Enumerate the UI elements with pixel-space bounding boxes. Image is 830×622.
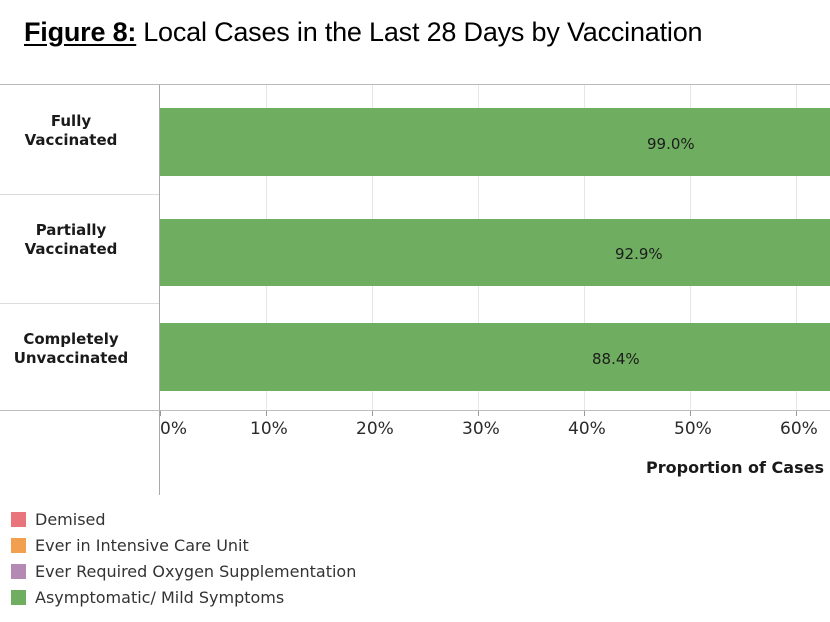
bar-value-partially-vaccinated: 92.9%	[615, 245, 663, 263]
category-label-fully-vaccinated: Fully Vaccinated	[0, 112, 142, 150]
category-label-line: Vaccinated	[0, 240, 142, 259]
category-label-line: Partially	[0, 221, 142, 240]
x-tick-label-20: 20%	[356, 419, 394, 439]
plot-area: 99.0% 92.9% 88.4%	[160, 85, 830, 410]
figure-number-label: Figure 8:	[24, 17, 136, 48]
category-label-line: Completely	[0, 330, 142, 349]
x-tick-label-10: 10%	[250, 419, 288, 439]
page-title: Figure 8:Local Cases in the Last 28 Days…	[24, 8, 824, 56]
x-tick-mark	[266, 411, 267, 416]
x-tick-mark	[372, 411, 373, 416]
x-tick-label-40: 40%	[568, 419, 606, 439]
bar-partially-vaccinated[interactable]	[160, 219, 830, 286]
chart-container: Fully Vaccinated Partially Vaccinated Co…	[0, 84, 830, 496]
x-tick-label-60: 60%	[780, 419, 818, 439]
category-label-partially-vaccinated: Partially Vaccinated	[0, 221, 142, 259]
x-tick-mark	[160, 411, 161, 416]
category-separator	[0, 303, 160, 304]
legend-label: Demised	[35, 510, 106, 529]
category-label-completely-unvaccinated: Completely Unvaccinated	[0, 330, 142, 368]
legend-label: Asymptomatic/ Mild Symptoms	[35, 588, 284, 607]
legend-item-icu[interactable]: Ever in Intensive Care Unit	[11, 532, 611, 558]
x-tick-mark	[796, 411, 797, 416]
figure-title-text: Local Cases in the Last 28 Days by Vacci…	[143, 17, 702, 48]
legend-item-oxygen[interactable]: Ever Required Oxygen Supplementation	[11, 558, 611, 584]
chart-legend: Demised Ever in Intensive Care Unit Ever…	[11, 506, 611, 610]
legend-label: Ever in Intensive Care Unit	[35, 536, 249, 555]
category-label-line: Vaccinated	[0, 131, 142, 150]
legend-swatch-icon	[11, 538, 26, 553]
x-tick-mark	[584, 411, 585, 416]
x-tick-mark	[478, 411, 479, 416]
x-tick-label-50: 50%	[674, 419, 712, 439]
x-axis-title: Proportion of Cases	[646, 458, 824, 477]
category-label-line: Fully	[0, 112, 142, 131]
legend-item-demised[interactable]: Demised	[11, 506, 611, 532]
legend-swatch-icon	[11, 512, 26, 527]
x-tick-label-0: 0%	[160, 419, 187, 439]
x-tick-mark	[690, 411, 691, 416]
category-label-line: Unvaccinated	[0, 349, 142, 368]
legend-swatch-icon	[11, 590, 26, 605]
x-axis-line	[0, 410, 830, 411]
category-separator	[0, 194, 160, 195]
bar-completely-unvaccinated[interactable]	[160, 323, 830, 391]
bar-value-completely-unvaccinated: 88.4%	[592, 350, 640, 368]
x-tick-label-30: 30%	[462, 419, 500, 439]
legend-item-asymptomatic[interactable]: Asymptomatic/ Mild Symptoms	[11, 584, 611, 610]
legend-label: Ever Required Oxygen Supplementation	[35, 562, 356, 581]
bar-value-fully-vaccinated: 99.0%	[647, 135, 695, 153]
legend-swatch-icon	[11, 564, 26, 579]
bar-fully-vaccinated[interactable]	[160, 108, 830, 176]
